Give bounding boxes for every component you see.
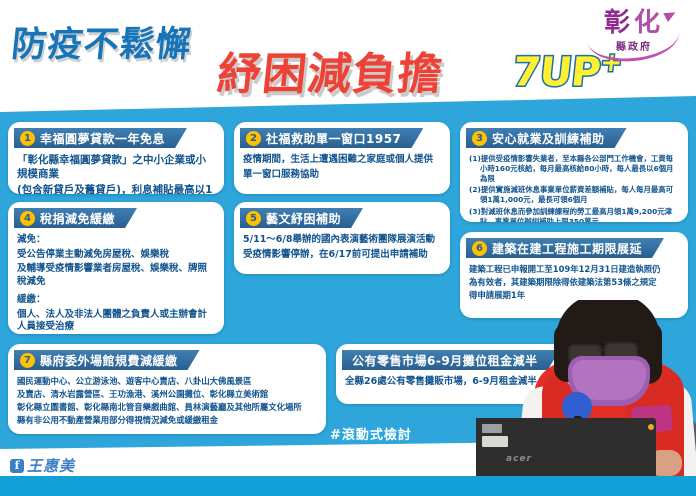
card-7-line-3: 縣有非公用不動產營業用部分得視情況減免或緩繳租金 <box>17 415 318 426</box>
card-3-line-0: (1)提供受疫情影響失業者，至本縣各公部門工作機會，工資每小時160元核給，每月… <box>469 154 680 183</box>
card-5: 5 藝文紓困補助 5/11～6/8舉辦的國內表演藝術團隊展演活動 受疫情影響停辦… <box>234 202 450 274</box>
card-3-line-2: (3)對減班休息而參加訓練課程的勞工最高月領1萬9,200元津貼，事業單位辦訓補… <box>469 207 680 222</box>
footer-blue-bar <box>0 476 696 496</box>
card-4-line-4: 緩繳： <box>17 294 216 307</box>
card-6-line-1: 為有效者，其建築期限除得依建築法第53條之規定 <box>469 277 680 288</box>
card-6-ribbon: 6 建築在建工程施工期限展延 <box>466 238 664 258</box>
card-7-line-0: 國民運動中心、公立游泳池、遊客中心賣店、八卦山大佛風景區 <box>17 376 318 387</box>
card-1-line-0: 「彰化縣幸福圓夢貸款」之中小企業或小規模商業 <box>17 154 216 182</box>
laptop-sticker-1 <box>482 424 502 433</box>
speaker-photo: acer <box>476 300 696 476</box>
card-1-title: 幸福圓夢貸款一年免息 <box>40 130 165 147</box>
card-3-line-1: (2)提供實施減班休息事業單位薪資差額補貼，每人每月最高可領1萬1,000元，最… <box>469 185 680 205</box>
hashtag-label: #滾動式檢討 <box>330 424 412 443</box>
changhua-county-logo: 彰化 縣政府 <box>586 10 682 72</box>
card-1-line-1: (包含新貸戶及舊貸戶)，利息補貼最高以1年為限 <box>17 184 216 194</box>
card-7: 7 縣府委外場館規費減緩繳 國民運動中心、公立游泳池、遊客中心賣店、八卦山大佛風… <box>8 344 326 434</box>
card-3-ribbon: 3 安心就業及訓練補助 <box>466 128 627 148</box>
card-4-number: 4 <box>20 211 35 226</box>
card-1-number: 1 <box>20 131 35 146</box>
card-3-title: 安心就業及訓練補助 <box>492 130 605 147</box>
card-6-line-0: 建築工程已申報開工至109年12月31日建造執照仍 <box>469 264 680 275</box>
card-6-title: 建築在建工程施工期限展延 <box>492 240 642 257</box>
card-7-number: 7 <box>20 353 35 368</box>
card-2-body: 疫情期間，生活上遭遇困難之家庭或個人提供 單一窗口服務協助 <box>234 148 450 187</box>
card-4-line-0: 減免： <box>17 234 216 247</box>
card-2-title: 社福救助單一窗口1957 <box>266 130 401 147</box>
card-7-body: 國民運動中心、公立游泳池、遊客中心賣店、八卦山大佛風景區 及賣店、清水岩露營區、… <box>8 370 326 432</box>
page-title-sub: 紓困減負擔 <box>215 38 447 102</box>
card-3: 3 安心就業及訓練補助 (1)提供受疫情影響失業者，至本縣各公部門工作機會，工資… <box>460 122 688 222</box>
card-7-title: 縣府委外場館規費減緩繳 <box>40 352 178 369</box>
card-4-body: 減免： 受公告停業主動減免房屋稅、娛樂稅 及輔導受疫情影響業者房屋稅、娛樂稅、牌… <box>8 228 224 334</box>
card-7-line-2: 彰化縣立圖書館、彰化縣南北管音樂戲曲館、員林演藝廳及其他所屬文化場所 <box>17 402 318 413</box>
card-7-ribbon: 7 縣府委外場館規費減緩繳 <box>14 350 200 370</box>
poster-root: 防疫不鬆懈 紓困減負擔 7UP+ 彰化 縣政府 1 幸福圓夢貸款一年免息 「彰化… <box>0 0 696 496</box>
card-2: 2 社福救助單一窗口1957 疫情期間，生活上遭遇困難之家庭或個人提供 單一窗口… <box>234 122 450 194</box>
laptop-indicator-dot <box>648 424 654 430</box>
card-1: 1 幸福圓夢貸款一年免息 「彰化縣幸福圓夢貸款」之中小企業或小規模商業 (包含新… <box>8 122 224 194</box>
facebook-icon: f <box>10 459 24 473</box>
glasses-bridge-icon <box>597 349 606 351</box>
laptop <box>476 418 656 476</box>
card-2-ribbon: 2 社福救助單一窗口1957 <box>240 128 423 148</box>
card-5-line-0: 5/11～6/8舉辦的國內表演藝術團隊展演活動 <box>243 234 442 247</box>
card-4-title: 稅捐減免緩繳 <box>40 210 115 227</box>
card-7-line-1: 及賣店、清水岩露營區、王功漁港、溪州公園攤位、彰化縣立美術館 <box>17 389 318 400</box>
laptop-sticker-2 <box>482 436 508 447</box>
card-2-number: 2 <box>246 131 261 146</box>
facebook-name: 王惠美 <box>27 455 75 476</box>
card-5-ribbon: 5 藝文紓困補助 <box>240 208 363 228</box>
facebook-credit[interactable]: f 王惠美 <box>10 455 75 476</box>
card-6-number: 6 <box>472 241 487 256</box>
card-5-number: 5 <box>246 211 261 226</box>
card-4: 4 稅捐減免緩繳 減免： 受公告停業主動減免房屋稅、娛樂稅 及輔導受疫情影響業者… <box>8 202 224 334</box>
card-2-line-0: 疫情期間，生活上遭遇困難之家庭或個人提供 <box>243 154 442 167</box>
page-title-main: 防疫不鬆懈 <box>9 16 194 67</box>
card-4-ribbon: 4 稅捐減免緩繳 <box>14 208 137 228</box>
card-1-ribbon: 1 幸福圓夢貸款一年免息 <box>14 128 187 148</box>
card-4-line-5: 個人、法人及非法人團體之負責人或主辦會計人員接受治療 <box>17 309 216 334</box>
laptop-brand-label: acer <box>506 454 532 464</box>
card-3-number: 3 <box>472 131 487 146</box>
card-4-line-1: 受公告停業主動減免房屋稅、娛樂稅 <box>17 249 216 262</box>
card-2-line-1: 單一窗口服務協助 <box>243 169 442 182</box>
card-5-title: 藝文紓困補助 <box>266 210 341 227</box>
card-1-body: 「彰化縣幸福圓夢貸款」之中小企業或小規模商業 (包含新貸戶及舊貸戶)，利息補貼最… <box>8 148 224 194</box>
card-5-body: 5/11～6/8舉辦的國內表演藝術團隊展演活動 受疫情影響停辦，在6/17前可提… <box>234 228 450 267</box>
card-5-line-1: 受疫情影響停辦，在6/17前可提出申請補助 <box>243 249 442 262</box>
card-4-line-2: 及輔導受疫情影響業者房屋稅、娛樂稅、牌照稅減免 <box>17 263 216 288</box>
card-3-body: (1)提供受疫情影響失業者，至本縣各公部門工作機會，工資每小時160元核給，每月… <box>460 148 688 222</box>
